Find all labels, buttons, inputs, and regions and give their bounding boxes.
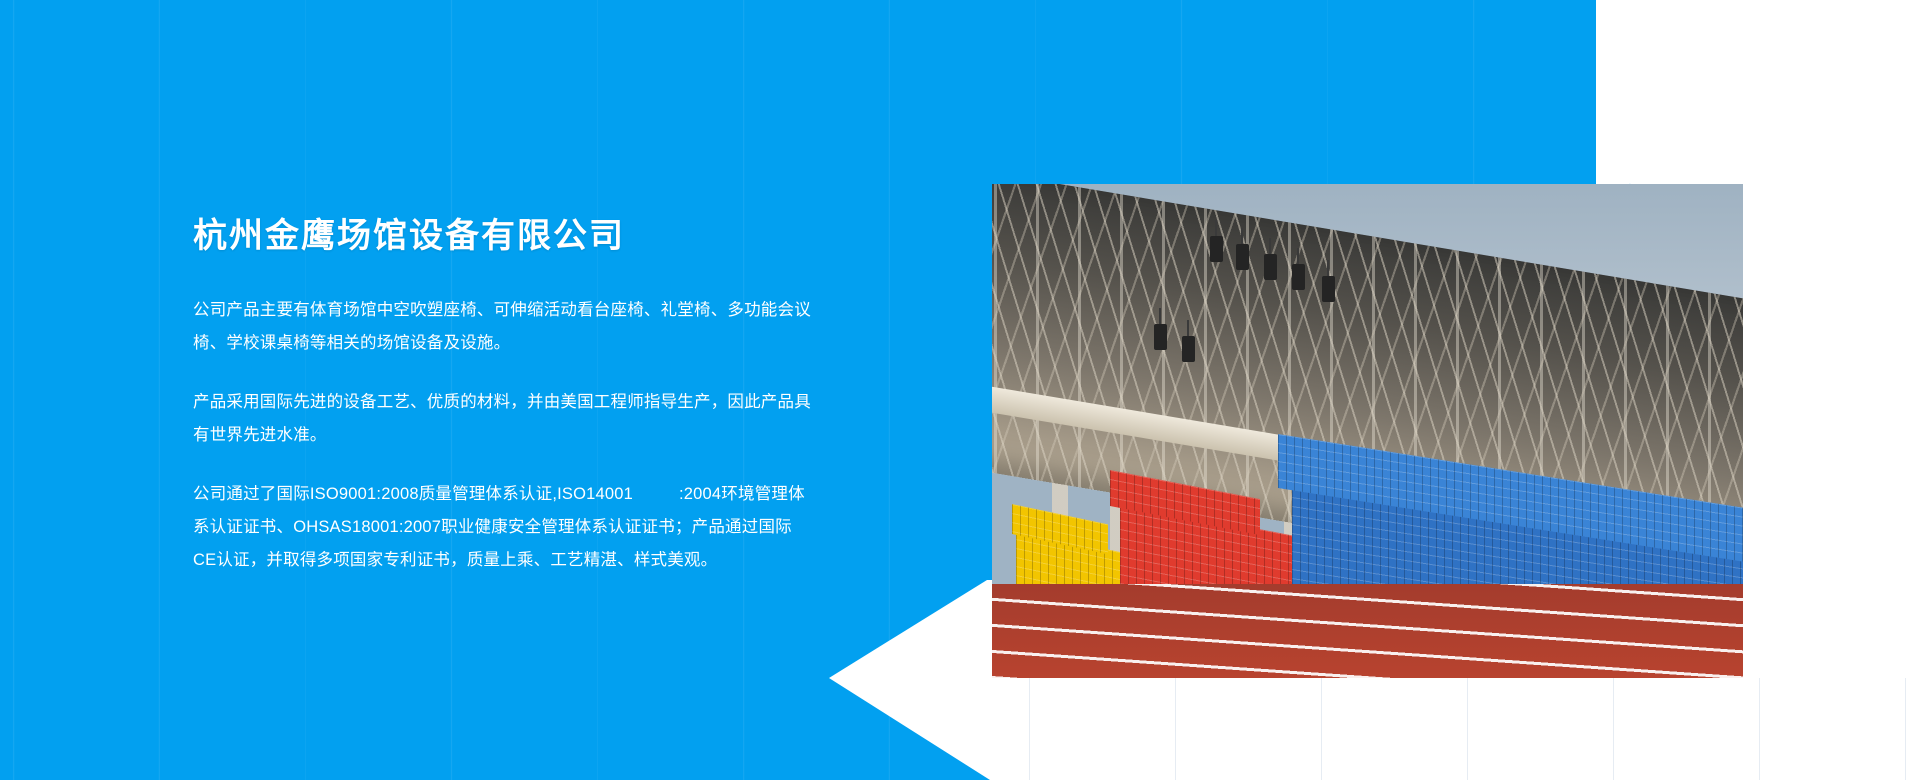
hanging-speaker-icon bbox=[1154, 324, 1167, 350]
running-track-lane-lines bbox=[992, 584, 1743, 678]
hero-paragraph-quality: 产品采用国际先进的设备工艺、优质的材料，并由美国工程师指导生产，因此产品具有世界… bbox=[193, 386, 813, 452]
hanging-speaker-icon bbox=[1210, 236, 1223, 262]
hero-banner: 杭州金鹰场馆设备有限公司 公司产品主要有体育场馆中空吹塑座椅、可伸缩活动看台座椅… bbox=[0, 0, 1920, 780]
hanging-speaker-icon bbox=[1322, 276, 1335, 302]
hanging-speaker-icon bbox=[1236, 244, 1249, 270]
stadium-photo bbox=[992, 184, 1743, 678]
page-title: 杭州金鹰场馆设备有限公司 bbox=[193, 215, 813, 258]
hanging-speaker-icon bbox=[1182, 336, 1195, 362]
hero-paragraph-certifications: 公司通过了国际ISO9001:2008质量管理体系认证,ISO14001:200… bbox=[193, 478, 813, 577]
stadium-photo-image bbox=[992, 184, 1743, 678]
running-track bbox=[992, 584, 1743, 678]
hanging-speaker-icon bbox=[1264, 254, 1277, 280]
hero-copy-block: 杭州金鹰场馆设备有限公司 公司产品主要有体育场馆中空吹塑座椅、可伸缩活动看台座椅… bbox=[193, 215, 813, 577]
hanging-speaker-icon bbox=[1292, 264, 1305, 290]
hero-paragraph-products: 公司产品主要有体育场馆中空吹塑座椅、可伸缩活动看台座椅、礼堂椅、多功能会议椅、学… bbox=[193, 294, 813, 360]
cert-text-part-1: 公司通过了国际ISO9001:2008质量管理体系认证,ISO14001 bbox=[193, 485, 633, 503]
